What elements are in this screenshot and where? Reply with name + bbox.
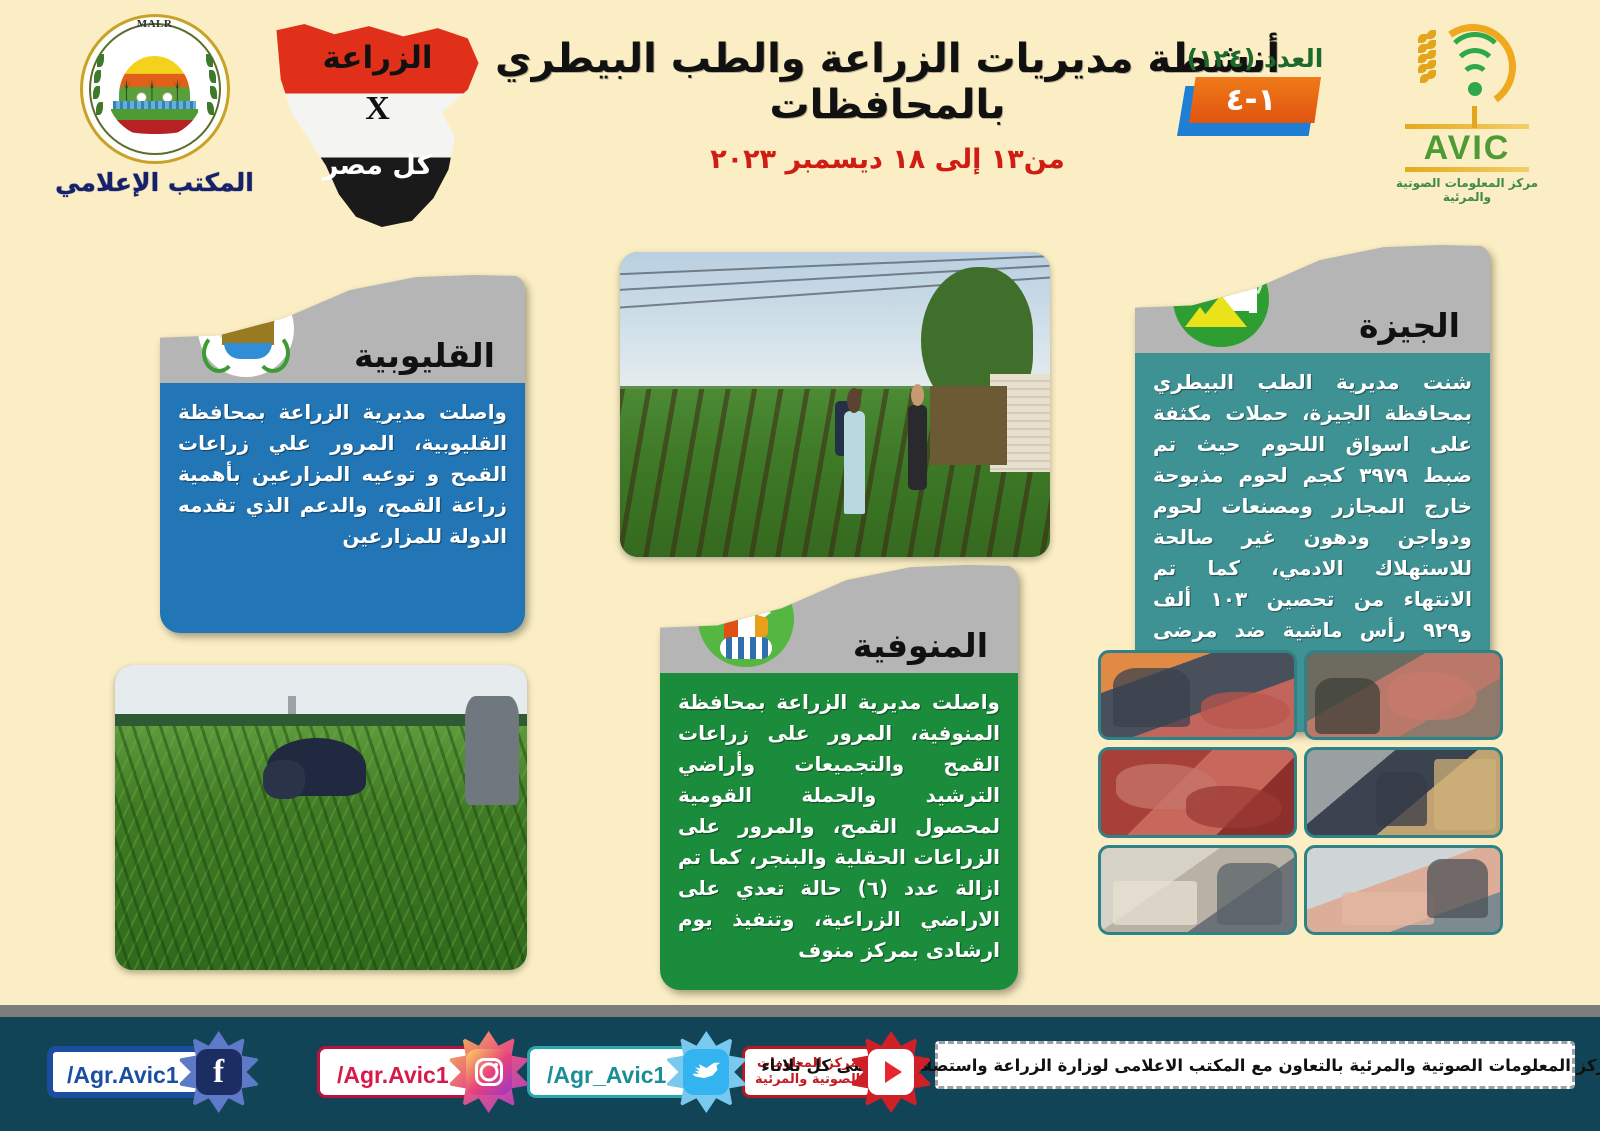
menoufia-emblem-icon: [698, 571, 794, 667]
card-title: القليوبية: [354, 336, 495, 375]
instagram-handle[interactable]: /Agr.Avic1: [320, 1049, 470, 1095]
facebook-handle[interactable]: /Agr.Avic1: [50, 1049, 200, 1095]
instagram-icon[interactable]: [456, 1039, 522, 1105]
photo-meat-5: [1304, 845, 1503, 935]
facebook-icon[interactable]: [186, 1039, 252, 1105]
photo-meat-6: [1098, 845, 1297, 935]
footer-note: اصدار اسبوعى لمركز المعلومات الصوتية وال…: [935, 1041, 1575, 1089]
governorate-card-qalyubia: القليوبية واصلت مديرية الزراعة بمحافظة ا…: [160, 275, 525, 633]
photo-field-crew-inspection: [115, 665, 527, 970]
photo-meat-2: [1098, 650, 1297, 740]
card-title: الجيزة: [1359, 306, 1460, 345]
photo-meat-4: [1098, 747, 1297, 837]
card-header: الجيزة: [1135, 245, 1490, 353]
twitter-icon[interactable]: [673, 1039, 739, 1105]
date-range: من١٣ إلى ١٨ ديسمبر ٢٠٢٣: [470, 144, 1305, 175]
card-body-text: واصلت مديرية الزراعة بمحافظة القليوبية، …: [160, 383, 525, 633]
issue-badge: ١-٤: [1185, 77, 1325, 133]
card-title: المنوفية: [853, 626, 988, 665]
photo-meat-1: [1304, 650, 1503, 740]
twitter-handle[interactable]: /Agr_Avic1: [530, 1049, 687, 1095]
meat-inspection-photo-grid: [1098, 650, 1503, 935]
media-office-label: المكتب الإعلامي: [52, 168, 257, 197]
giza-emblem-icon: [1173, 251, 1269, 347]
map-subtitle: كل مصر: [270, 150, 485, 181]
poster-header: MALR: [0, 0, 1600, 225]
social-link-twitter[interactable]: /Agr_Avic1: [530, 1037, 739, 1107]
issue-block: العدد (١٢٤) ١-٤: [1180, 44, 1330, 133]
egypt-map-flag-icon: الزراعة X كل مصر: [270, 22, 485, 227]
map-x-marker: X: [270, 90, 485, 128]
social-link-instagram[interactable]: /Agr.Avic1: [320, 1037, 522, 1107]
social-link-facebook[interactable]: /Agr.Avic1: [50, 1037, 252, 1107]
photo-meat-3: [1304, 747, 1503, 837]
issue-number: ١-٤: [1185, 77, 1317, 123]
wheat-icon: [1418, 30, 1436, 90]
issue-label: العدد (١٢٤): [1180, 44, 1330, 73]
footer-divider: [0, 1005, 1600, 1017]
avic-wordmark: AVIC: [1382, 131, 1552, 165]
malr-logo-icon: MALR: [80, 14, 230, 164]
card-header: القليوبية: [160, 275, 525, 383]
qalyubia-emblem-icon: [198, 281, 294, 377]
governorate-card-menoufia: المنوفية واصلت مديرية الزراعة بمحافظة ال…: [660, 565, 1018, 990]
poster-canvas: MALR: [0, 0, 1600, 1131]
youtube-icon[interactable]: [858, 1039, 924, 1105]
photo-wheat-field-inspection: [620, 252, 1050, 557]
avic-subtitle: مركز المعلومات الصوتية والمرئية: [1382, 176, 1552, 204]
map-title: الزراعة: [270, 40, 485, 76]
ministry-logo-block: MALR: [52, 14, 257, 197]
malr-acronym: MALR: [80, 18, 230, 30]
avic-wifi-wheat-icon: [1392, 20, 1542, 124]
card-header: المنوفية: [660, 565, 1018, 673]
card-body-text: واصلت مديرية الزراعة بمحافظة المنوفية، ا…: [660, 673, 1018, 990]
avic-logo-block: AVIC مركز المعلومات الصوتية والمرئية: [1382, 20, 1552, 204]
